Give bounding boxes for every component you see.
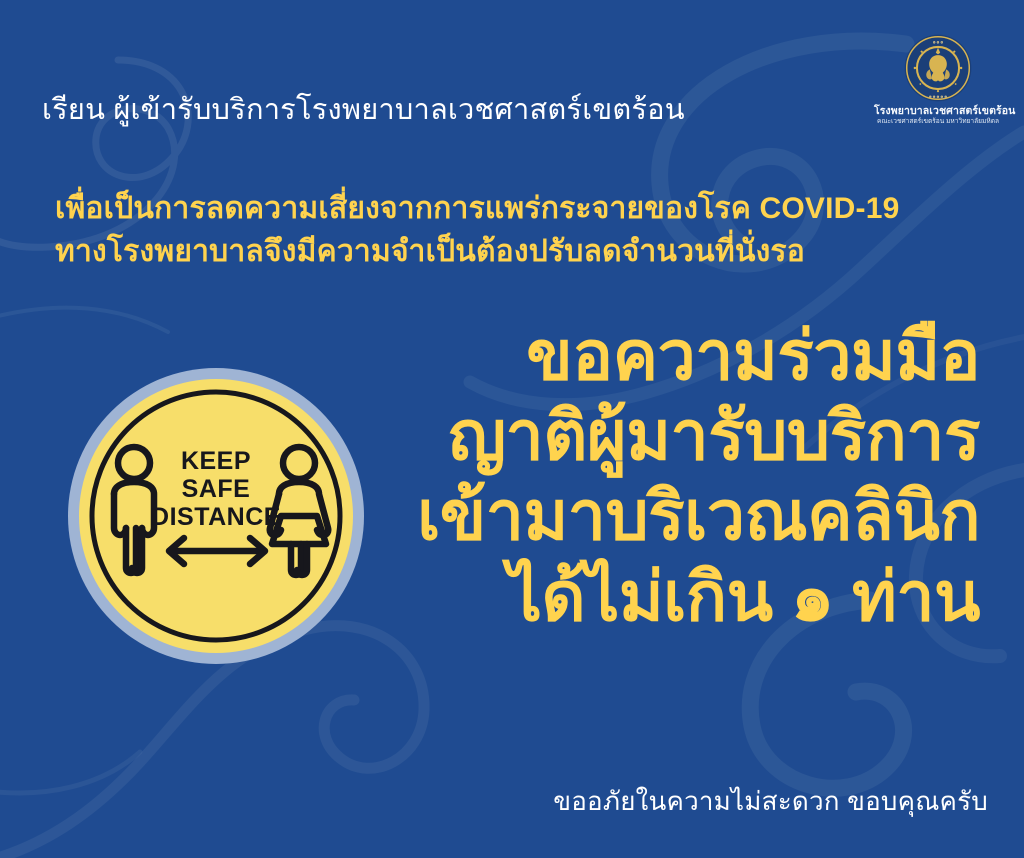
headline-line-1: ขอความร่วมมือ bbox=[417, 316, 980, 396]
salutation-text: เรียน ผู้เข้ารับบริการโรงพยาบาลเวชศาสตร์… bbox=[42, 86, 685, 132]
badge-line-2: SAFE bbox=[182, 475, 251, 503]
keep-safe-distance-badge: KEEP SAFE DISTANCE bbox=[66, 366, 366, 666]
footnote-text: ขออภัยในความไม่สะดวก ขอบคุณครับ bbox=[553, 781, 988, 822]
subheading-line-2: ทางโรงพยาบาลจึงมีความจำเป็นต้องปรับลดจำน… bbox=[55, 231, 899, 274]
badge-line-1: KEEP bbox=[181, 447, 251, 475]
logo-hospital-name: โรงพยาบาลเวชศาสตร์เขตร้อน bbox=[874, 105, 1002, 117]
headline-block: ขอความร่วมมือ ญาติผู้มารับบริการ เข้ามาบ… bbox=[417, 316, 980, 637]
hospital-logo: ๏ ๏ ๏ ๏ ๏ ๏ ๏ ๏ โรงพยาบาลเวชศาสตร์เขตร้อ… bbox=[874, 34, 1002, 126]
svg-text:๏ ๏ ๏: ๏ ๏ ๏ bbox=[933, 40, 944, 45]
headline-line-2: ญาติผู้มารับบริการ bbox=[417, 396, 980, 476]
headline-line-4: ได้ไม่เกิน ๑ ท่าน bbox=[417, 557, 980, 637]
subheading-block: เพื่อเป็นการลดความเสี่ยงจากการแพร่กระจาย… bbox=[55, 188, 899, 273]
badge-line-3: DISTANCE bbox=[151, 503, 281, 531]
svg-text:๏ ๏ ๏ ๏ ๏: ๏ ๏ ๏ ๏ ๏ bbox=[929, 94, 947, 99]
headline-line-3: เข้ามาบริเวณคลินิก bbox=[417, 476, 980, 556]
subheading-line-1: เพื่อเป็นการลดความเสี่ยงจากการแพร่กระจาย… bbox=[55, 188, 899, 231]
hospital-crest-icon: ๏ ๏ ๏ ๏ ๏ ๏ ๏ ๏ bbox=[904, 34, 972, 102]
logo-faculty-name: คณะเวชศาสตร์เขตร้อน มหาวิทยาลัยมหิดล bbox=[874, 118, 1002, 126]
poster-canvas: ๏ ๏ ๏ ๏ ๏ ๏ ๏ ๏ โรงพยาบาลเวชศาสตร์เขตร้อ… bbox=[0, 0, 1024, 858]
